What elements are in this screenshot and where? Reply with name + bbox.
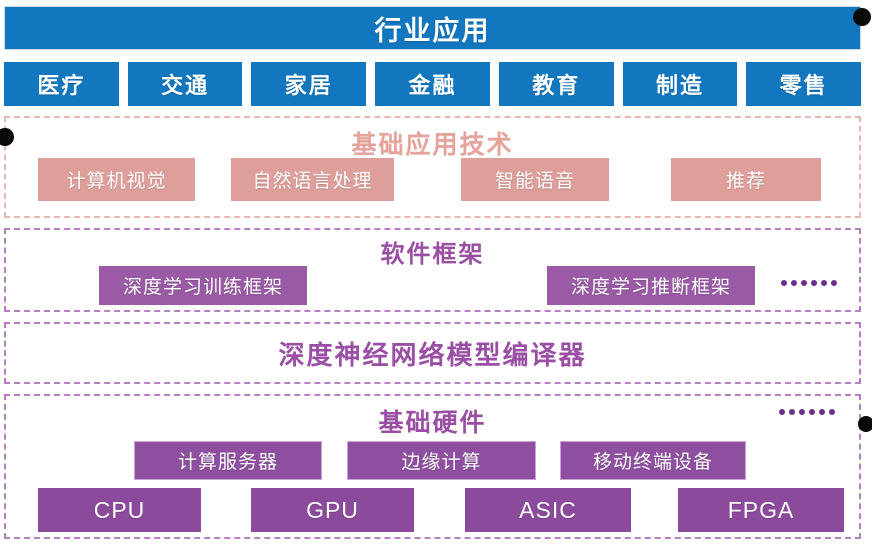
industry-item-medical[interactable]: 医疗 <box>4 62 119 106</box>
app-tech-item-label: 推荐 <box>726 166 766 193</box>
app-tech-item-computer-vision[interactable]: 计算机视觉 <box>38 158 195 201</box>
layer-basic-application-technology: 基础应用技术 计算机视觉 自然语言处理 智能语音 推荐 <box>4 116 861 218</box>
industry-item-finance[interactable]: 金融 <box>375 62 490 106</box>
layer-industry-applications-header: 行业应用 <box>4 6 861 50</box>
hardware-item-label: 计算服务器 <box>178 447 278 474</box>
app-tech-item-label: 自然语言处理 <box>252 166 372 193</box>
layer-dnn-model-compiler-title: 深度神经网络模型编译器 <box>278 335 586 372</box>
industry-item-label: 教育 <box>532 68 580 100</box>
layer-software-framework: 软件框架 深度学习训练框架 深度学习推断框架 <box>4 228 861 312</box>
app-tech-item-label: 智能语音 <box>495 166 575 193</box>
hardware-chip-row: CPU GPU ASIC FPGA <box>6 488 859 533</box>
framework-item-label: 深度学习训练框架 <box>123 272 283 299</box>
industry-item-label: 制造 <box>656 68 704 100</box>
software-framework-row: 深度学习训练框架 深度学习推断框架 <box>6 266 859 306</box>
app-tech-item-label: 计算机视觉 <box>66 166 166 193</box>
layer-basic-hardware: 基础硬件 计算服务器 边缘计算 移动终端设备 CPU GPU ASIC <box>4 394 861 539</box>
hardware-compute-row: 计算服务器 边缘计算 移动终端设备 <box>6 441 859 481</box>
ai-stack-diagram: 行业应用 医疗 交通 家居 金融 教育 制造 零售 基础应用技术 计算机视觉 <box>0 0 872 544</box>
industry-item-label: 金融 <box>409 68 457 100</box>
industry-item-manufacturing[interactable]: 制造 <box>623 62 738 106</box>
hardware-chip-gpu[interactable]: GPU <box>251 488 414 532</box>
app-tech-item-recommendation[interactable]: 推荐 <box>671 158 821 201</box>
app-tech-item-speech[interactable]: 智能语音 <box>461 158 609 201</box>
industry-item-label: 医疗 <box>37 68 85 100</box>
layer-software-framework-title: 软件框架 <box>6 234 859 269</box>
hardware-chip-asic[interactable]: ASIC <box>465 488 631 532</box>
hardware-chip-fpga[interactable]: FPGA <box>678 488 844 532</box>
hardware-item-compute-server[interactable]: 计算服务器 <box>134 441 322 480</box>
industry-item-smart-home[interactable]: 家居 <box>251 62 366 106</box>
industry-item-retail[interactable]: 零售 <box>746 62 861 106</box>
marker-dot-top-right <box>853 8 871 26</box>
industry-item-education[interactable]: 教育 <box>499 62 614 106</box>
layer-dnn-model-compiler: 深度神经网络模型编译器 <box>4 322 861 384</box>
industry-item-label: 家居 <box>285 68 333 100</box>
framework-item-inference[interactable]: 深度学习推断框架 <box>547 266 755 305</box>
industry-applications-row: 医疗 交通 家居 金融 教育 制造 零售 <box>4 62 861 106</box>
framework-item-label: 深度学习推断框架 <box>571 272 731 299</box>
hardware-chip-cpu[interactable]: CPU <box>38 488 201 532</box>
industry-item-label: 零售 <box>780 68 828 100</box>
hardware-ellipsis-icon <box>779 409 835 415</box>
hardware-chip-label: ASIC <box>519 497 577 524</box>
framework-ellipsis-icon <box>781 280 837 286</box>
layer-basic-application-technology-title: 基础应用技术 <box>6 125 859 161</box>
hardware-item-edge-computing[interactable]: 边缘计算 <box>347 441 536 480</box>
layer-basic-hardware-title: 基础硬件 <box>6 403 859 439</box>
hardware-chip-label: FPGA <box>728 497 795 524</box>
hardware-item-mobile-terminal[interactable]: 移动终端设备 <box>560 441 746 480</box>
app-tech-item-nlp[interactable]: 自然语言处理 <box>231 158 394 201</box>
hardware-chip-label: GPU <box>306 497 359 524</box>
marker-dot-bottom-right <box>858 416 872 432</box>
industry-item-label: 交通 <box>161 68 209 100</box>
layer-industry-applications-title: 行业应用 <box>375 9 491 48</box>
framework-item-training[interactable]: 深度学习训练框架 <box>99 266 307 305</box>
hardware-chip-label: CPU <box>94 497 146 524</box>
hardware-item-label: 边缘计算 <box>401 447 481 474</box>
industry-item-transport[interactable]: 交通 <box>128 62 243 106</box>
application-technology-row: 计算机视觉 自然语言处理 智能语音 推荐 <box>6 158 859 202</box>
hardware-item-label: 移动终端设备 <box>593 447 713 474</box>
